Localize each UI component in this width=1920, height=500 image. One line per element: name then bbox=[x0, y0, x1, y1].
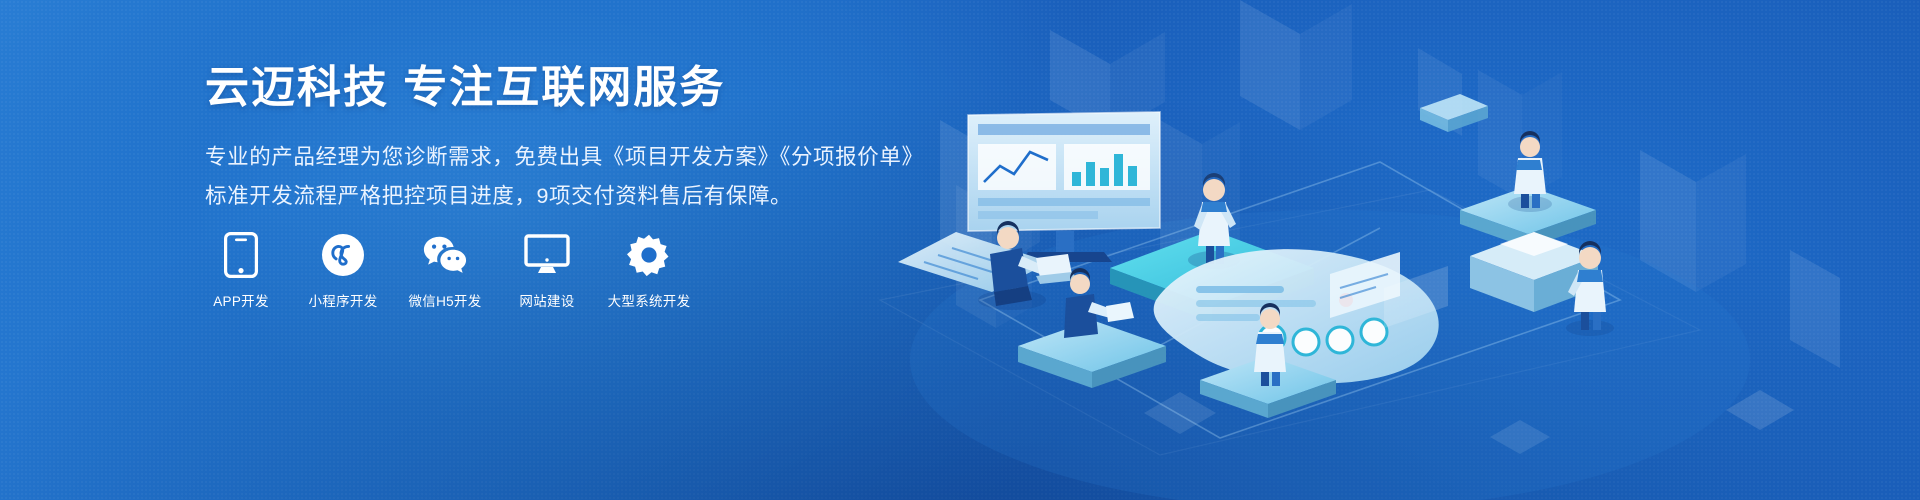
banner-subtitle: 专业的产品经理为您诊断需求，免费出具《项目开发方案》《分项报价单》 标准开发流程… bbox=[205, 138, 924, 216]
page-title: 云迈科技 专注互联网服务 bbox=[205, 60, 924, 116]
mobile-phone-icon bbox=[218, 232, 264, 278]
service-item-mini-program[interactable]: 小程序开发 bbox=[307, 232, 379, 310]
service-label: 小程序开发 bbox=[309, 290, 378, 310]
service-label: 大型系统开发 bbox=[608, 290, 691, 310]
wechat-icon bbox=[422, 232, 468, 278]
mini-program-icon bbox=[320, 232, 366, 278]
service-item-wechat-h5[interactable]: 微信H5开发 bbox=[409, 232, 481, 310]
service-label: APP开发 bbox=[213, 290, 269, 310]
service-label: 微信H5开发 bbox=[408, 290, 481, 310]
service-item-website[interactable]: 网站建设 bbox=[511, 232, 583, 310]
hero-banner: 云迈科技 专注互联网服务 专业的产品经理为您诊断需求，免费出具《项目开发方案》《… bbox=[0, 0, 1920, 500]
service-item-large-system[interactable]: 大型系统开发 bbox=[613, 232, 685, 310]
banner-copy: 云迈科技 专注互联网服务 专业的产品经理为您诊断需求，免费出具《项目开发方案》《… bbox=[205, 60, 924, 217]
isometric-illustration bbox=[860, 0, 1920, 500]
service-item-app[interactable]: APP开发 bbox=[205, 232, 277, 310]
service-label: 网站建设 bbox=[519, 290, 574, 310]
service-list: APP开发 小程序开发 微信 bbox=[205, 232, 685, 310]
subtitle-line-1: 专业的产品经理为您诊断需求，免费出具《项目开发方案》《分项报价单》 bbox=[205, 138, 924, 177]
monitor-icon bbox=[524, 232, 570, 278]
gear-icon bbox=[626, 232, 672, 278]
subtitle-line-2: 标准开发流程严格把控项目进度，9项交付资料售后有保障。 bbox=[205, 177, 924, 216]
